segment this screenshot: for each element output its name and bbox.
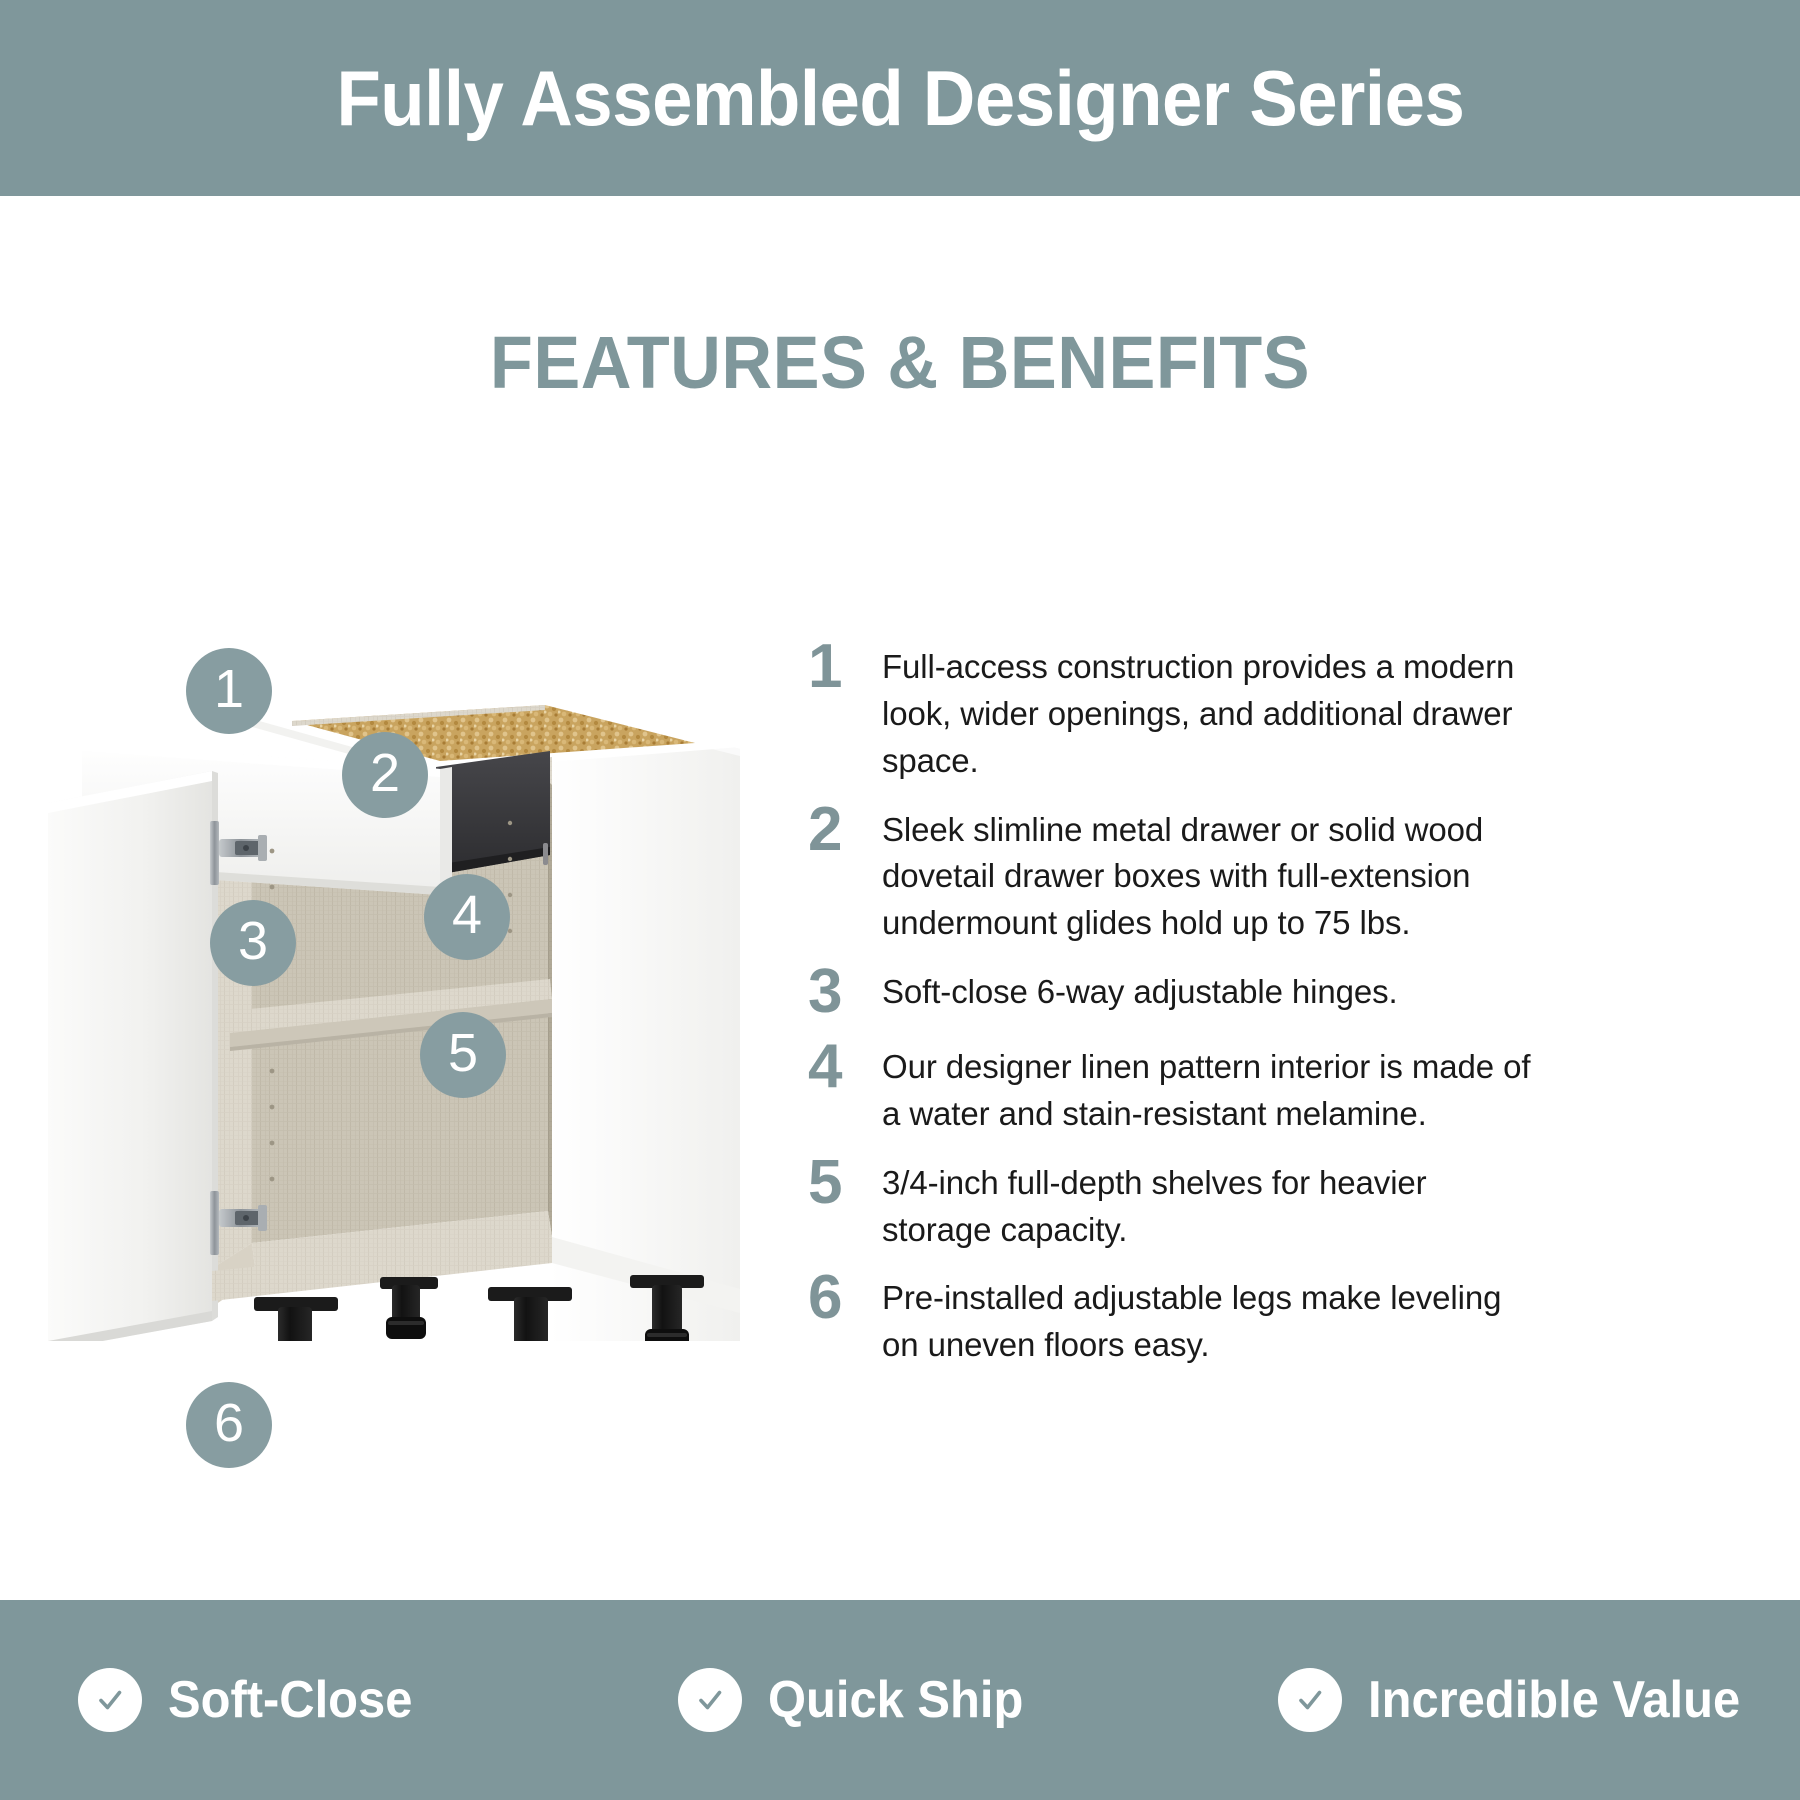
feature-item-2: 2 Sleek slimline metal drawer or solid w… [808, 807, 1538, 948]
feature-text-4: Our designer linen pattern interior is m… [882, 1044, 1538, 1138]
footer-item-soft-close: Soft-Close [0, 1668, 600, 1732]
content-stage: 1 2 3 4 5 6 1 Full-access construction p… [0, 196, 1800, 1600]
callout-badge-1[interactable]: 1 [186, 648, 272, 734]
features-list: 1 Full-access construction provides a mo… [808, 644, 1538, 1391]
feature-item-6: 6 Pre-installed adjustable legs make lev… [808, 1275, 1538, 1369]
callout-badge-6[interactable]: 6 [186, 1382, 272, 1468]
footer-label-quick-ship: Quick Ship [768, 1670, 1023, 1730]
footer-label-incredible-value: Incredible Value [1368, 1670, 1740, 1730]
feature-text-6: Pre-installed adjustable legs make level… [882, 1275, 1538, 1369]
feature-item-3: 3 Soft-close 6-way adjustable hinges. [808, 969, 1538, 1022]
feature-number-1: 1 [808, 638, 882, 697]
drawer-glide [543, 843, 548, 865]
header-bar: Fully Assembled Designer Series [0, 0, 1800, 196]
page-title: Fully Assembled Designer Series [336, 53, 1464, 144]
feature-text-3: Soft-close 6-way adjustable hinges. [882, 969, 1538, 1016]
callout-badge-5[interactable]: 5 [420, 1012, 506, 1098]
feature-number-5: 5 [808, 1154, 882, 1213]
footer-bar: Soft-Close Quick Ship Incredible Value [0, 1600, 1800, 1800]
callout-badge-2[interactable]: 2 [342, 732, 428, 818]
feature-number-3: 3 [808, 963, 882, 1022]
callout-badge-3[interactable]: 3 [210, 900, 296, 986]
check-icon [78, 1668, 142, 1732]
feature-number-4: 4 [808, 1038, 882, 1097]
feature-text-1: Full-access construction provides a mode… [882, 644, 1538, 785]
feature-text-2: Sleek slimline metal drawer or solid woo… [882, 807, 1538, 948]
cabinet-door [48, 771, 218, 1341]
feature-number-2: 2 [808, 801, 882, 860]
callout-badge-4[interactable]: 4 [424, 874, 510, 960]
check-icon [1278, 1668, 1342, 1732]
feature-item-4: 4 Our designer linen pattern interior is… [808, 1044, 1538, 1138]
feature-item-1: 1 Full-access construction provides a mo… [808, 644, 1538, 785]
footer-item-incredible-value: Incredible Value [1200, 1668, 1800, 1732]
feature-number-6: 6 [808, 1269, 882, 1328]
feature-item-5: 5 3/4-inch full-depth shelves for heavie… [808, 1160, 1538, 1254]
feature-text-5: 3/4-inch full-depth shelves for heavier … [882, 1160, 1538, 1254]
check-icon [678, 1668, 742, 1732]
adjustable-leg-rear-left [380, 1277, 438, 1339]
adjustable-leg-front-left [254, 1297, 338, 1341]
footer-label-soft-close: Soft-Close [168, 1670, 412, 1730]
footer-item-quick-ship: Quick Ship [600, 1668, 1200, 1732]
metal-drawer-box [436, 751, 550, 875]
